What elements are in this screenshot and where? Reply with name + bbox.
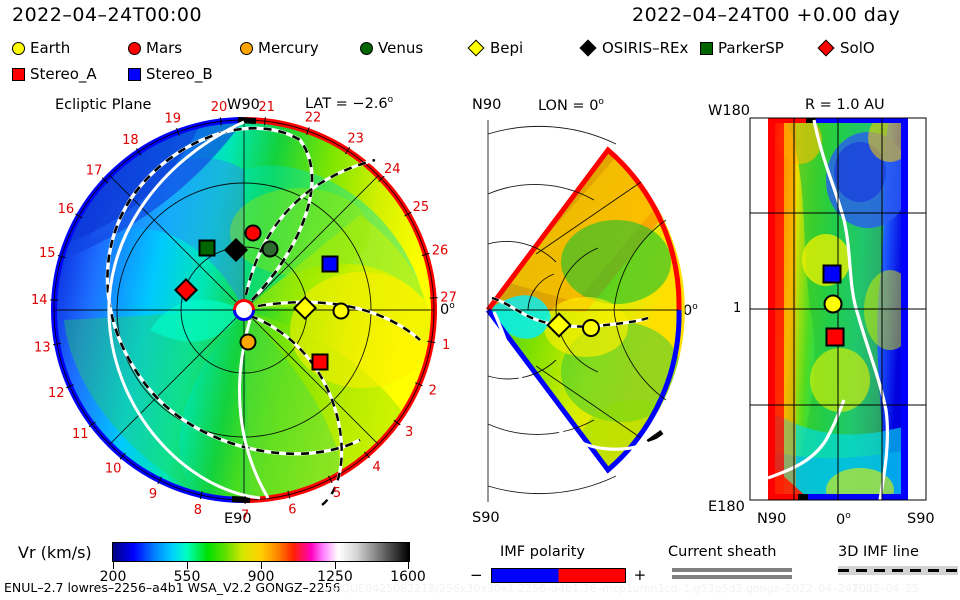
ecliptic-tick-label: 8 [194,503,202,518]
legend-label: OSIRIS–REx [602,39,688,57]
degree-sup: o [845,511,851,521]
colorbar: 200 550 900 1250 1600 [112,542,410,562]
ecliptic-tick-label: 27 [440,290,457,305]
ecliptic-tick-label: 19 [164,111,181,126]
ecliptic-tick-label: 17 [86,164,103,179]
stereo-b-marker[interactable] [323,257,338,272]
ecliptic-tick-label: 6 [288,503,296,518]
ecliptic-rim-tick [430,298,438,299]
ecliptic-tick-label: 2 [429,384,437,399]
colorbar-label: Vr (km/s) [18,545,92,561]
ecliptic-tick-label: 21 [258,100,275,115]
dashed-line-icon [838,566,958,575]
osiris-rex-marker-icon [580,40,597,57]
bepi-marker-icon [468,40,485,57]
ecliptic-tick-label: 26 [432,244,449,259]
ecliptic-tick-label: 7 [241,508,249,523]
ecliptic-tick-label: 23 [347,132,364,147]
parkersp-marker-icon [700,42,713,55]
ecliptic-tick-label: 15 [39,246,56,261]
earth-marker[interactable] [825,296,842,313]
ecliptic-tick-label: 3 [405,425,413,440]
parkersp-marker[interactable] [200,241,215,256]
ecliptic-tick-label: 9 [149,487,157,502]
meridional-plane-plot [466,112,691,522]
sun-marker [233,299,255,321]
legend-item-parkersp[interactable]: ParkerSP [700,39,784,57]
ecliptic-tick-label: 18 [122,133,139,148]
ecliptic-tick-label: 24 [384,162,401,177]
legend-label: SolO [840,39,875,57]
footer-watermark-date: 2022–04–25 [852,583,919,594]
colorbar-tick [335,562,336,569]
imf-polarity-title: IMF polarity [500,545,585,560]
solo-marker-icon [818,40,835,57]
imf-polarity-bar-icon [491,568,626,583]
datetime-right: 2022–04–24T00 +0.00 day [632,6,900,25]
legend-item-osiris-rex[interactable]: OSIRIS–REx [582,39,688,57]
stereo-a-marker[interactable] [827,329,844,346]
polarity-plus-label: + [634,568,647,583]
ecliptic-tick-label: 1 [442,338,450,353]
solar-wind-visualization: 2022–04–24T00:00 2022–04–24T00 +0.00 day… [0,0,960,600]
ecliptic-tick-label: 11 [72,427,89,442]
stereo-b-marker[interactable] [824,266,841,283]
colorbar-tick [408,562,409,569]
earth-marker[interactable] [334,304,349,319]
venus-marker[interactable] [263,242,278,257]
cyl-axis-label-zero: 0o [836,512,851,527]
degree-sup: o [692,302,698,312]
imf-line-title: 3D IMF line [838,545,919,560]
mars-marker[interactable] [246,226,261,241]
legend-item-solo[interactable]: SolO [820,39,875,57]
cyl-ytick-1: 1 [733,302,741,315]
colorbar-tick [261,562,262,569]
ecliptic-tick-label: 14 [31,293,48,308]
ecliptic-tick-label: 4 [373,460,381,475]
cyl-axis-label-s90: S90 [907,512,935,527]
zero-value: 0 [836,512,845,528]
footer-watermark: UNIQUE0425082218/256x30x90x1.2256–a4b1.1… [322,583,873,594]
ecliptic-tick-label: 16 [58,202,75,217]
ecliptic-tick-label: 20 [211,100,228,115]
sheath-line-upper [672,568,792,572]
legend-item-bepi[interactable]: Bepi [470,39,523,57]
meridional-label-n90: N90 [472,98,501,113]
colorbar-gradient [112,542,410,562]
ecliptic-tick-label: 13 [34,340,51,355]
ecliptic-tick-label: 12 [48,386,65,401]
ecliptic-tick-label: 22 [305,110,322,125]
ecliptic-plane-plot: 2021222324252627123456789101112131415161… [0,0,470,540]
ecliptic-tick-label: 10 [105,461,122,476]
current-sheath-title: Current sheath [668,545,777,560]
stereo-a-marker[interactable] [313,355,328,370]
legend-label: ParkerSP [718,39,784,57]
imf-polarity-legend: − + [470,568,646,583]
cylindrical-plot [740,110,940,510]
ecliptic-tick-label: 5 [333,486,341,501]
footer-model-info: ENUL–2.7 lowres–2256–a4b1 WSA_V2.2 GONGZ… [4,582,341,595]
legend-label: Bepi [490,39,523,57]
sheath-line-lower [672,575,792,579]
vr-field-cylindrical [768,114,916,510]
cyl-axis-label-n90: N90 [757,512,786,527]
colorbar-tick [113,562,114,569]
colorbar-tick [187,562,188,569]
mercury-marker[interactable] [241,335,256,350]
imf-line-legend-icon [838,566,958,575]
current-sheath-legend-icon [672,568,792,579]
cylindrical-body-markers [824,266,844,346]
vr-field-meridional [466,112,691,522]
degree-sup: o [598,97,604,107]
earth-marker[interactable] [583,320,599,336]
polarity-minus-label: − [470,568,483,583]
ecliptic-tick-label: 25 [413,200,430,215]
